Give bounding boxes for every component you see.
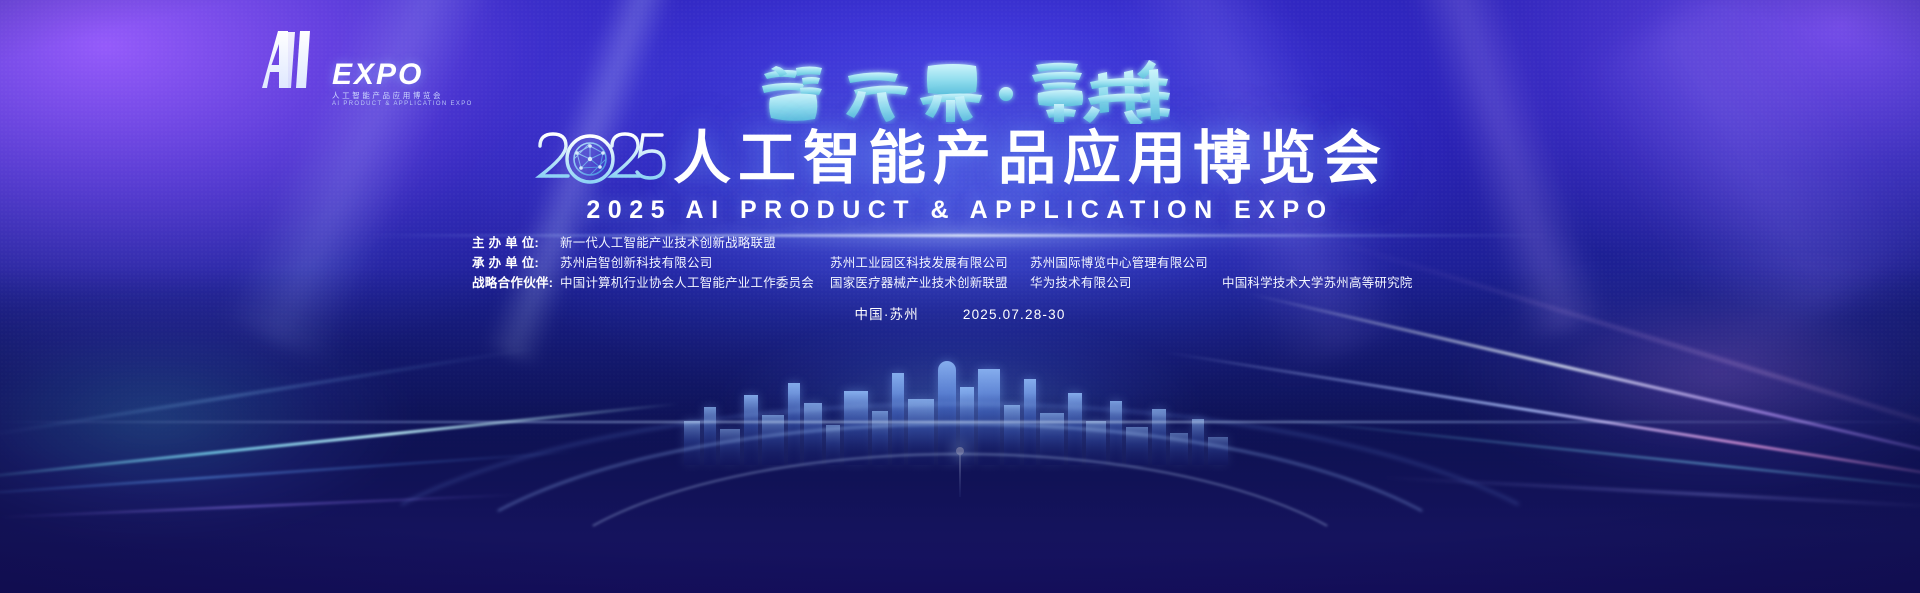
credit-value: 华为技术有限公司 [1030, 272, 1132, 291]
expo-keyvisual-banner: EXPO 人工智能产品应用博览会 AI PRODUCT & APPLICATIO… [0, 0, 1920, 593]
main-title: 人工智能产品应用博览会 [0, 126, 1920, 192]
credit-row-host: 主 办 单 位: 新一代人工智能产业技术创新战略联盟 [0, 232, 1920, 252]
credit-label: 战略合作伙伴: [472, 272, 553, 291]
credit-value: 新一代人工智能产业技术创新战略联盟 [560, 232, 776, 251]
content-layer: EXPO 人工智能产品应用博览会 AI PRODUCT & APPLICATIO… [0, 0, 1920, 593]
credit-label: 承 办 单 位: [472, 252, 539, 271]
main-title-en: 2025 AI PRODUCT & APPLICATION EXPO [0, 196, 1920, 225]
credit-value: 中国计算机行业协会人工智能产业工作委员会 [560, 272, 814, 291]
credit-value: 苏州国际博览中心管理有限公司 [1030, 252, 1208, 271]
event-location: 中国·苏州 [854, 303, 919, 323]
credit-row-partners: 战略合作伙伴: 中国计算机行业协会人工智能产业工作委员会 国家医疗器械产业技术创… [0, 272, 1920, 292]
credit-value: 国家医疗器械产业技术创新联盟 [830, 272, 1008, 291]
credit-row-organizer: 承 办 单 位: 苏州启智创新科技有限公司 苏州工业园区科技发展有限公司 苏州国… [0, 252, 1920, 272]
event-meta: 中国·苏州 2025.07.28-30 [0, 303, 1920, 323]
credit-value: 中国科学技术大学苏州高等研究院 [1222, 272, 1413, 291]
main-title-cn: 人工智能产品应用博览会 [673, 130, 1388, 188]
credits-block: 主 办 单 位: 新一代人工智能产业技术创新战略联盟 承 办 单 位: 苏州启智… [0, 232, 1920, 292]
year-2025-graphic [532, 126, 667, 192]
event-date: 2025.07.28-30 [963, 307, 1066, 322]
credit-value: 苏州启智创新科技有限公司 [560, 252, 712, 271]
credit-label: 主 办 单 位: [472, 232, 539, 251]
slogan-calligraphy [0, 60, 1920, 124]
credit-value: 苏州工业园区科技发展有限公司 [830, 252, 1008, 271]
